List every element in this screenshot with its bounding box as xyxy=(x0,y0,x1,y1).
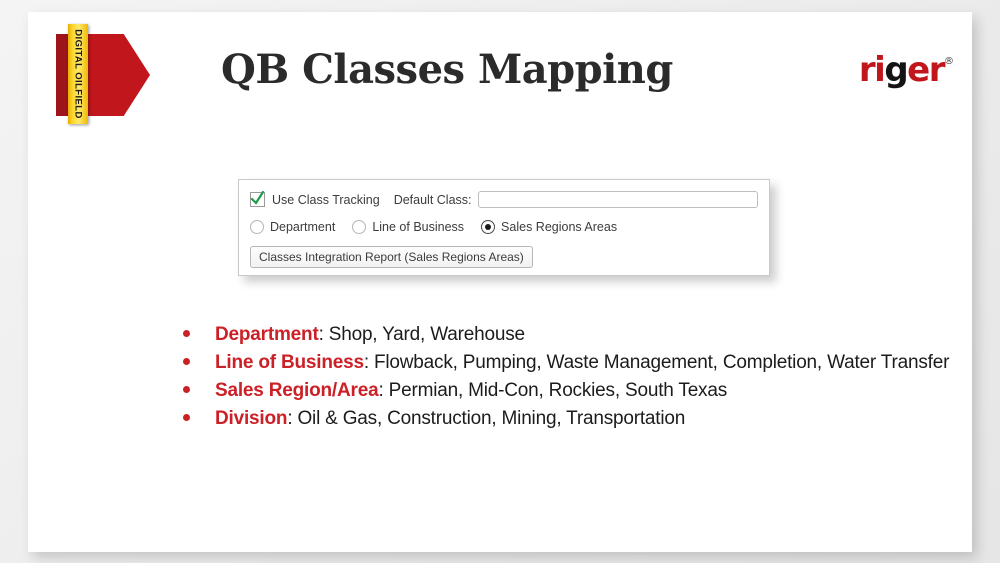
page-title: QB Classes Mapping xyxy=(221,46,673,93)
bullet-dot-icon xyxy=(183,330,190,337)
class-category-list: Department: Shop, Yard, Warehouse Line o… xyxy=(183,324,943,436)
badge-arrow-edge xyxy=(56,34,72,116)
list-item-text: Line of Business: Flowback, Pumping, Was… xyxy=(215,352,949,374)
list-item-text: Division: Oil & Gas, Construction, Minin… xyxy=(215,408,685,430)
list-item-values: : Permian, Mid-Con, Rockies, South Texas xyxy=(378,380,727,401)
badge-ribbon: DIGITAL OILFIELD xyxy=(68,24,88,124)
riger-droplet-g-icon: g xyxy=(884,50,907,90)
list-item-values: : Flowback, Pumping, Waste Management, C… xyxy=(364,352,949,373)
riger-text-er: er xyxy=(907,50,944,90)
list-item-category: Department xyxy=(215,324,319,345)
badge-arrow-shape xyxy=(56,34,150,116)
list-item: Line of Business: Flowback, Pumping, Was… xyxy=(183,352,943,374)
default-class-input[interactable] xyxy=(478,191,758,208)
list-item-text: Department: Shop, Yard, Warehouse xyxy=(215,324,525,346)
list-item: Division: Oil & Gas, Construction, Minin… xyxy=(183,408,943,430)
list-item-category: Sales Region/Area xyxy=(215,380,378,401)
panel-row-report-button: Classes Integration Report (Sales Region… xyxy=(250,246,533,268)
list-item-values: : Oil & Gas, Construction, Mining, Trans… xyxy=(287,408,685,429)
radio-label-line-of-business: Line of Business xyxy=(372,220,464,234)
radio-option-line-of-business[interactable]: Line of Business xyxy=(352,220,464,234)
list-item-values: : Shop, Yard, Warehouse xyxy=(319,324,525,345)
panel-row-radio-options: Department Line of Business Sales Region… xyxy=(250,220,617,234)
list-item-text: Sales Region/Area: Permian, Mid-Con, Roc… xyxy=(215,380,727,402)
radio-option-department[interactable]: Department xyxy=(250,220,335,234)
list-item-category: Line of Business xyxy=(215,352,364,373)
default-class-label: Default Class: xyxy=(394,193,472,207)
riger-wordmark: riger xyxy=(859,50,944,90)
bullet-dot-icon xyxy=(183,414,190,421)
riger-text-ri: ri xyxy=(859,50,884,90)
use-class-tracking-label: Use Class Tracking xyxy=(272,193,380,207)
radio-label-department: Department xyxy=(270,220,335,234)
digital-oilfield-badge: DIGITAL OILFIELD xyxy=(28,12,158,127)
list-item-category: Division xyxy=(215,408,287,429)
radio-label-sales-regions-areas: Sales Regions Areas xyxy=(501,220,617,234)
presentation-stage: DIGITAL OILFIELD QB Classes Mapping rige… xyxy=(0,0,1000,563)
radio-option-sales-regions-areas[interactable]: Sales Regions Areas xyxy=(481,220,617,234)
checkmark-icon xyxy=(250,190,265,208)
radio-icon-line-of-business[interactable] xyxy=(352,220,366,234)
list-item: Department: Shop, Yard, Warehouse xyxy=(183,324,943,346)
radio-icon-department[interactable] xyxy=(250,220,264,234)
badge-ribbon-label: DIGITAL OILFIELD xyxy=(73,29,84,118)
registered-trademark-mark: ® xyxy=(944,56,954,67)
use-class-tracking-checkbox[interactable] xyxy=(250,192,265,207)
radio-icon-sales-regions-areas[interactable] xyxy=(481,220,495,234)
slide-canvas: DIGITAL OILFIELD QB Classes Mapping rige… xyxy=(28,12,972,552)
qb-class-tracking-panel: Use Class Tracking Default Class: Depart… xyxy=(238,179,770,276)
bullet-dot-icon xyxy=(183,358,190,365)
riger-logo: riger ® xyxy=(854,50,954,90)
bullet-dot-icon xyxy=(183,386,190,393)
list-item: Sales Region/Area: Permian, Mid-Con, Roc… xyxy=(183,380,943,402)
panel-row-class-tracking: Use Class Tracking Default Class: xyxy=(250,191,758,208)
classes-integration-report-button[interactable]: Classes Integration Report (Sales Region… xyxy=(250,246,533,268)
